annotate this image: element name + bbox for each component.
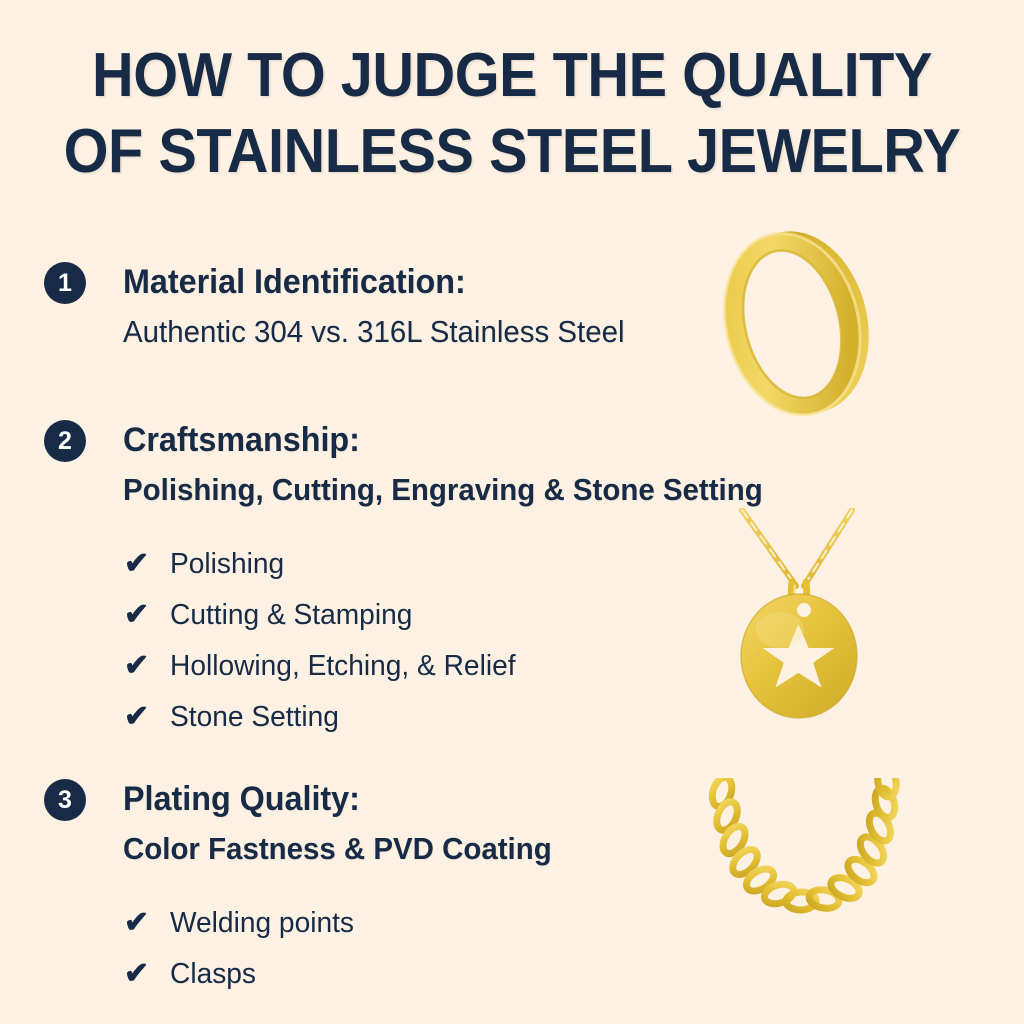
check-list-3: ✔ Welding points ✔ Clasps <box>124 897 360 999</box>
check-label: Clasps <box>170 949 256 1000</box>
list-item: ✔ Clasps <box>124 948 360 999</box>
list-item: ✔ Stone Setting <box>124 691 526 742</box>
infographic-canvas: HOW TO JUDGE THE QUALITY OF STAINLESS ST… <box>0 0 1024 1024</box>
step-number-badge-3: 3 <box>44 779 86 821</box>
check-label: Stone Setting <box>170 692 339 743</box>
list-item-1-subtitle: Authentic 304 vs. 316L Stainless Steel <box>123 310 625 354</box>
step-number-badge-2: 2 <box>44 420 86 462</box>
list-item-1-title: Material Identification: <box>123 260 625 304</box>
check-list-2: ✔ Polishing ✔ Cutting & Stamping ✔ Hollo… <box>124 538 526 742</box>
step-number-badge-1: 1 <box>44 262 86 304</box>
page-title: HOW TO JUDGE THE QUALITY OF STAINLESS ST… <box>36 38 988 190</box>
check-label: Cutting & Stamping <box>170 590 412 641</box>
list-item-3-title: Plating Quality: <box>123 777 552 821</box>
check-icon: ✔ <box>124 640 170 691</box>
page-title-line-2: OF STAINLESS STEEL JEWELRY <box>36 114 988 190</box>
list-item: ✔ Hollowing, Etching, & Relief <box>124 640 526 691</box>
check-icon: ✔ <box>124 897 170 948</box>
list-item: ✔ Polishing <box>124 538 526 589</box>
check-label: Welding points <box>170 898 354 949</box>
page-title-line-1: HOW TO JUDGE THE QUALITY <box>36 38 988 114</box>
check-label: Polishing <box>170 539 284 590</box>
list-item: ✔ Cutting & Stamping <box>124 589 526 640</box>
list-item: ✔ Welding points <box>124 897 360 948</box>
list-item-2-text: Craftsmanship: Polishing, Cutting, Engra… <box>123 418 796 512</box>
list-item-3-text: Plating Quality: Color Fastness & PVD Co… <box>123 777 574 871</box>
check-icon: ✔ <box>124 538 170 589</box>
list-item-2-title: Craftsmanship: <box>123 418 763 462</box>
list-item-1-text: Material Identification: Authentic 304 v… <box>123 260 651 354</box>
check-label: Hollowing, Etching, & Relief <box>170 641 516 692</box>
gold-ring-illustration <box>706 222 896 427</box>
check-icon: ✔ <box>124 691 170 742</box>
gold-chain-necklace-illustration <box>700 778 910 933</box>
list-item-3-subtitle: Color Fastness & PVD Coating <box>123 827 552 871</box>
check-icon: ✔ <box>124 948 170 999</box>
gold-star-pendant-necklace-illustration <box>700 508 900 728</box>
check-icon: ✔ <box>124 589 170 640</box>
list-item-2-subtitle: Polishing, Cutting, Engraving & Stone Se… <box>123 468 763 512</box>
